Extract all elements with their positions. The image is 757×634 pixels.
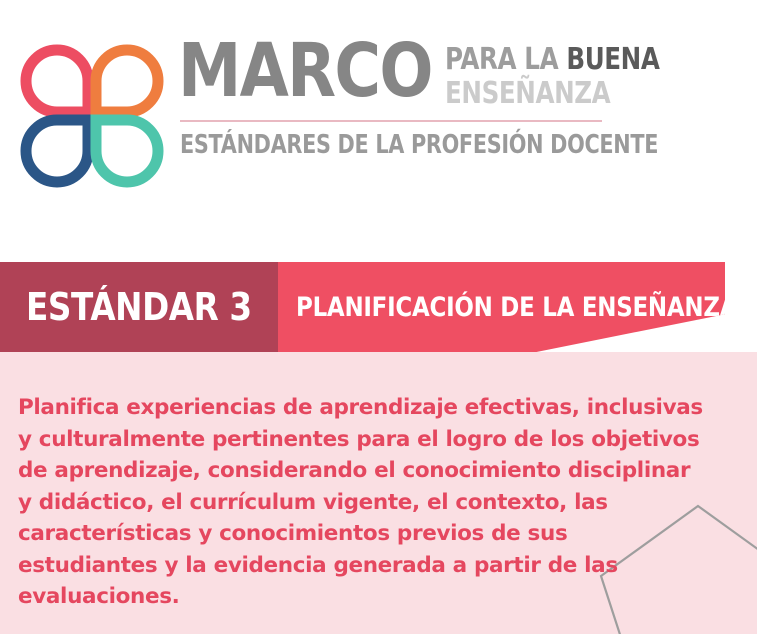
wordmark-ensenanza: ENSEÑANZA bbox=[445, 78, 659, 110]
four-ring-quadrant-logo-icon bbox=[16, 40, 168, 192]
header: MARCO PARA LA BUENA ENSEÑANZA ESTÁNDARES… bbox=[0, 0, 757, 262]
wordmark-secondary: PARA LA BUENA ENSEÑANZA bbox=[445, 40, 707, 109]
wordmark: MARCO PARA LA BUENA ENSEÑANZA ESTÁNDARES… bbox=[178, 38, 757, 160]
standard-number-label: ESTÁNDAR 3 bbox=[26, 288, 252, 326]
standard-title-block: PLANIFICACIÓN DE LA ENSEÑANZA bbox=[278, 262, 757, 352]
wordmark-para-la: PARA LA bbox=[445, 42, 566, 77]
logo-lockup: MARCO PARA LA BUENA ENSEÑANZA ESTÁNDARES… bbox=[16, 38, 757, 192]
wordmark-marco: MARCO bbox=[178, 40, 432, 102]
wordmark-top-row: MARCO PARA LA BUENA ENSEÑANZA bbox=[178, 40, 757, 109]
wordmark-para-la-buena: PARA LA BUENA bbox=[445, 45, 659, 76]
wordmark-divider-rule bbox=[180, 120, 602, 122]
wordmark-subtitle: ESTÁNDARES DE LA PROFESIÓN DOCENTE bbox=[180, 131, 658, 160]
standard-description-text: Planifica experiencias de aprendizaje ef… bbox=[18, 392, 708, 613]
standard-banner: ESTÁNDAR 3 PLANIFICACIÓN DE LA ENSEÑANZA bbox=[0, 262, 725, 352]
wordmark-buena: BUENA bbox=[566, 42, 659, 77]
standard-description: Planifica experiencias de aprendizaje ef… bbox=[18, 392, 708, 613]
standard-title-label: PLANIFICACIÓN DE LA ENSEÑANZA bbox=[296, 294, 737, 321]
standard-number-block: ESTÁNDAR 3 bbox=[0, 262, 278, 352]
